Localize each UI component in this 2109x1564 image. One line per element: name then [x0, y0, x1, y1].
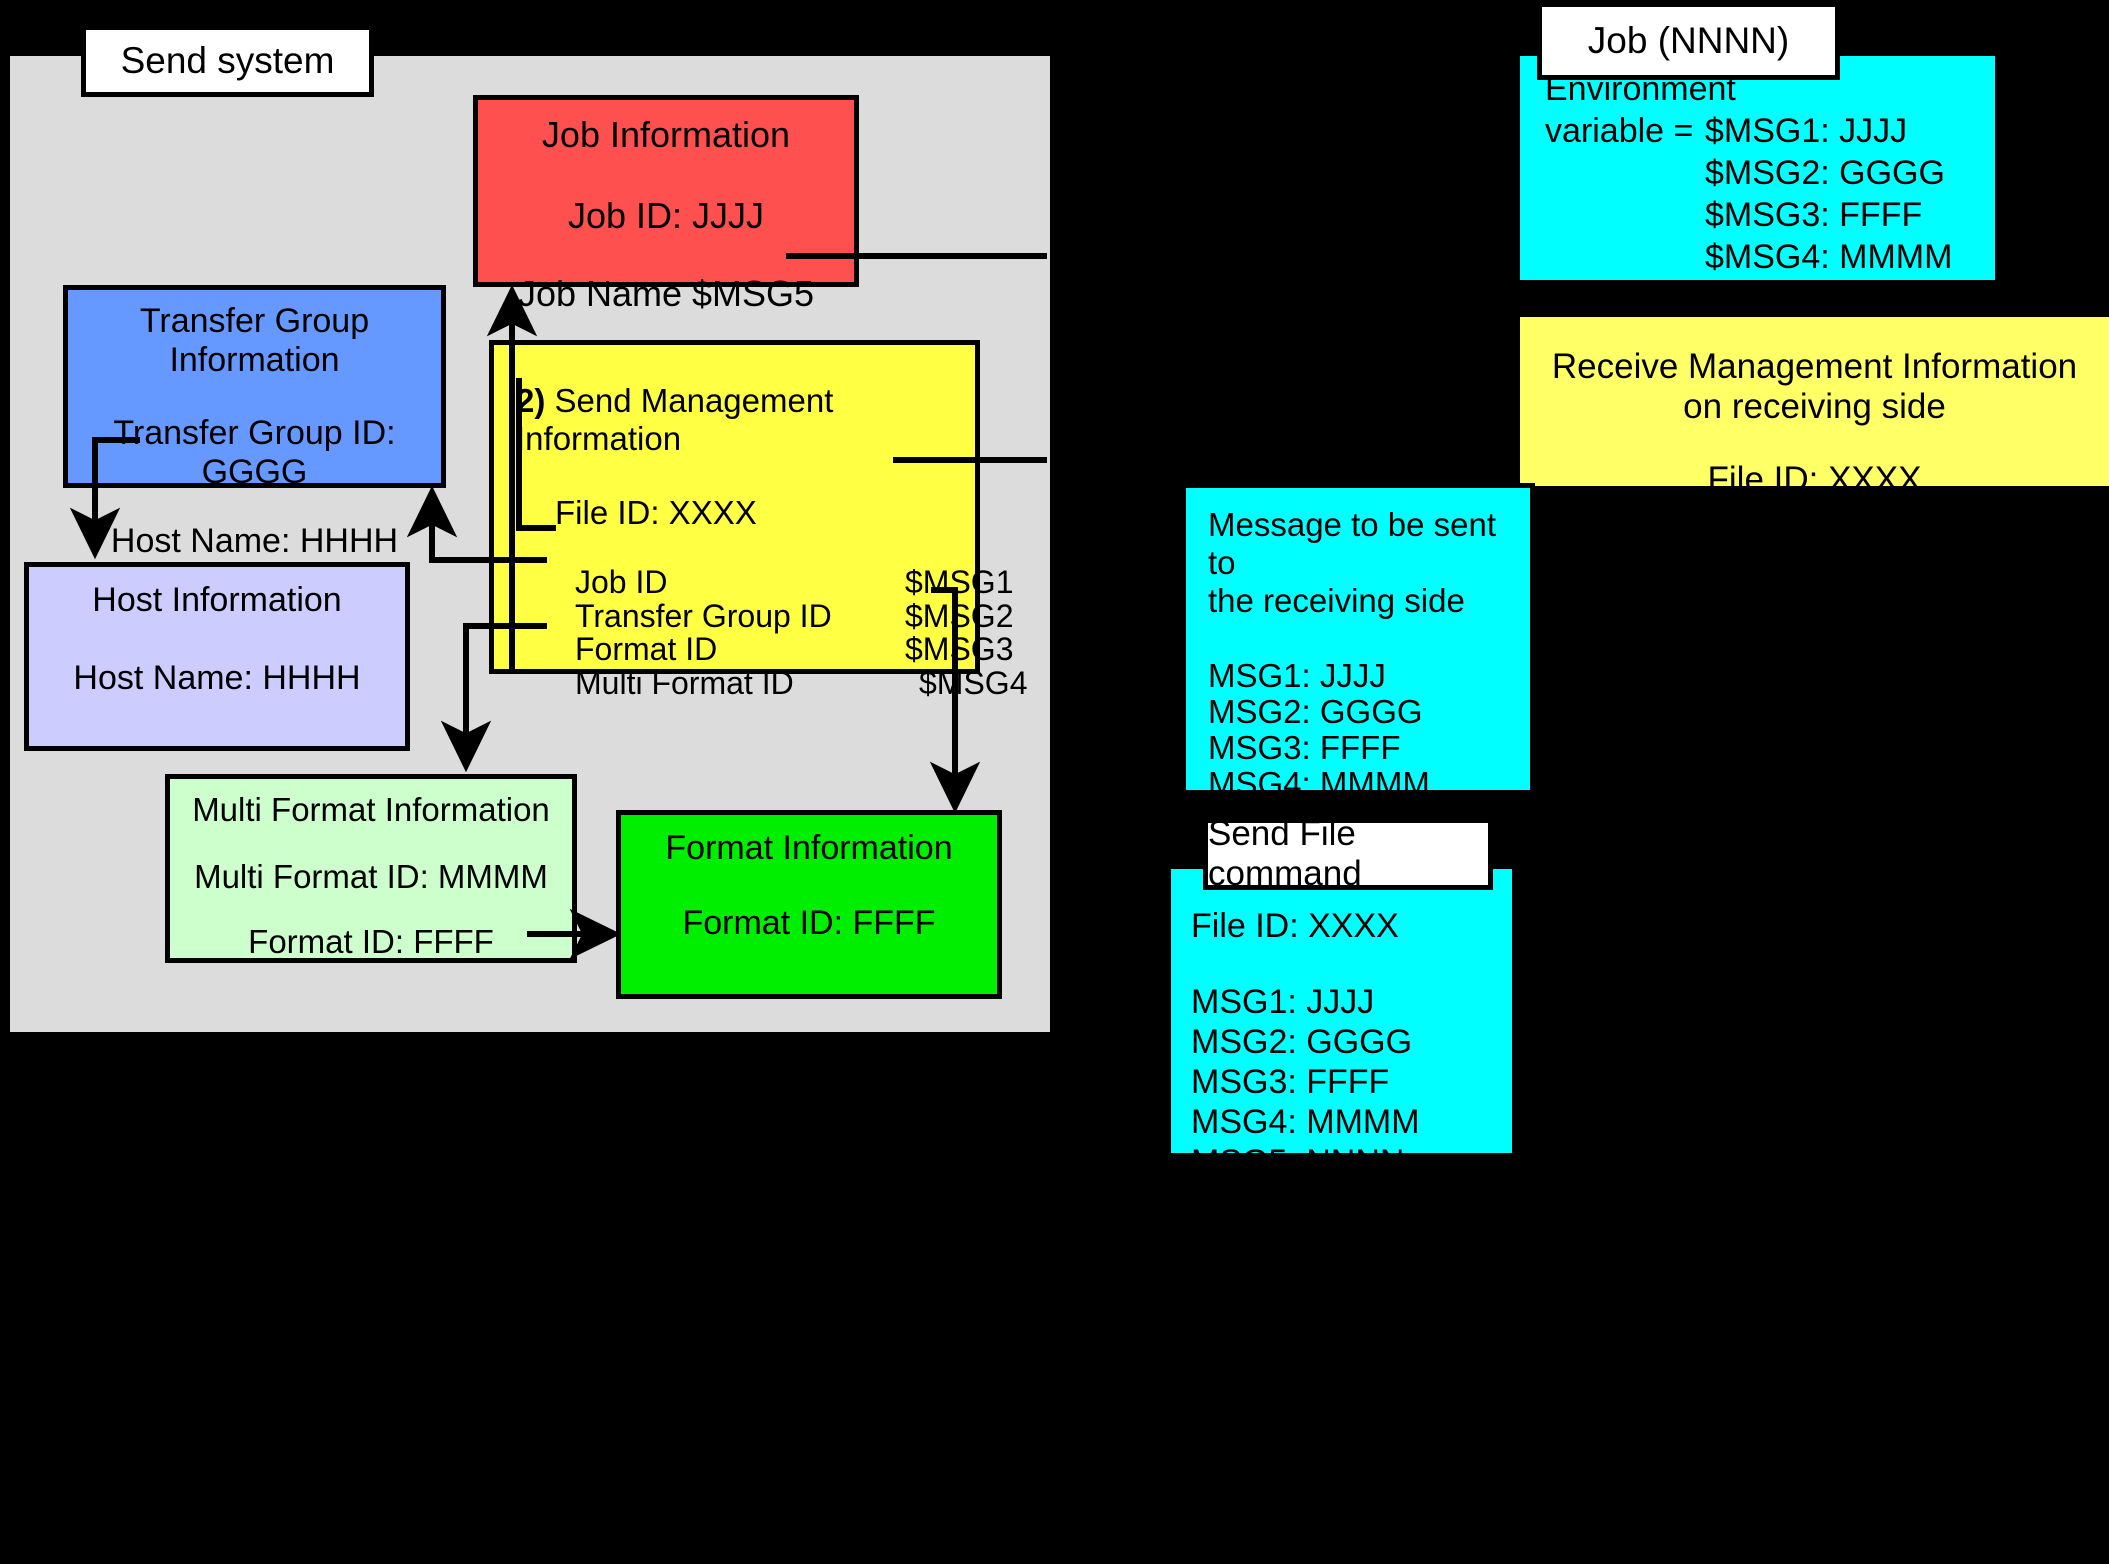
table-row: Transfer Group ID $MSG2: [575, 600, 1056, 634]
multi-format-format-id-text: Format ID: FFFF: [170, 923, 572, 961]
send-system-title-tab: Send system: [81, 25, 374, 97]
job-var-4: $MSG4: MMMM: [1545, 236, 2005, 278]
list-item: MSG2: GGGG: [1208, 694, 1430, 730]
send-management-file-id: File ID: XXXX: [494, 494, 1036, 532]
send-management-title: Send Management Information: [516, 382, 833, 457]
multi-format-title: Multi Format Information: [170, 791, 572, 829]
job-var-5: $MSG5: NNNN: [1545, 278, 2005, 320]
row-key: Multi Format ID: [575, 667, 905, 701]
send-file-command-title-tab: Send File command: [1203, 818, 1493, 890]
format-information-format-id-text: Format ID: FFFF: [621, 904, 997, 943]
message-list: MSG1: JJJJ MSG2: GGGG MSG3: FFFF MSG4: M…: [1208, 658, 1430, 838]
row-value: $MSG3: [905, 633, 1013, 667]
job-nnnn-label: Job (NNNN): [1588, 20, 1789, 62]
list-item: MSG5: NNNN: [1191, 1142, 1521, 1182]
row-key: Job ID: [575, 566, 905, 600]
row-key: Transfer Group ID: [575, 600, 905, 634]
job-var-3: $MSG3: FFFF: [1545, 194, 2005, 236]
send-management-rows: Job ID $MSG1 Transfer Group ID $MSG2 For…: [494, 566, 1056, 700]
message-to-be-sent-box: Message to be sent to the receiving side…: [1181, 483, 1535, 795]
send-system-label: Send system: [121, 40, 335, 82]
message-title-line1: Message to be sent to: [1208, 506, 1530, 582]
send-file-command-label: Send File command: [1208, 814, 1488, 894]
job-nnnn-title-tab: Job (NNNN): [1537, 2, 1840, 80]
table-row: Format ID $MSG3: [575, 633, 1056, 667]
row-value: $MSG2: [905, 600, 1013, 634]
format-information-title: Format Information: [621, 829, 997, 868]
diagram-canvas: Send system: [0, 0, 2109, 1564]
job-id-text: Job ID: JJJJ: [478, 195, 854, 237]
message-title-line2: the receiving side: [1208, 582, 1530, 620]
table-row: Multi Format ID $MSG4: [575, 667, 1056, 701]
job-var-2: $MSG2: GGGG: [1545, 152, 2005, 194]
job-name-text: Job Name $MSG5: [478, 273, 854, 315]
list-item: MSG1: JJJJ: [1208, 658, 1430, 694]
row-key: Format ID: [575, 633, 905, 667]
job-information-title: Job Information: [478, 114, 854, 156]
list-item: MSG3: FFFF: [1191, 1062, 1521, 1102]
multi-format-information-box: Multi Format Information Multi Format ID…: [165, 774, 577, 963]
transfer-group-title: Transfer Group Information: [68, 302, 441, 380]
list-item: MSG4: MMMM: [1191, 1102, 1521, 1142]
send-file-command-file-id: File ID: XXXX: [1191, 906, 1521, 946]
list-item: MSG3: FFFF: [1208, 730, 1430, 766]
job-var-1: $MSG1: JJJJ: [1705, 110, 1907, 152]
receive-management-title-line1: Receive Management Information: [1520, 347, 2109, 387]
format-information-box: Format Information Format ID: FFFF: [616, 810, 1002, 999]
multi-format-id-text: Multi Format ID: MMMM: [170, 858, 572, 896]
list-item: MSG1: JJJJ: [1191, 982, 1521, 1022]
environment-line2: variable =: [1545, 110, 1705, 152]
send-file-command-content: File ID: XXXX MSG1: JJJJ MSG2: GGGG MSG3…: [1191, 906, 1521, 1182]
receive-management-title-line2: on receiving side: [1520, 387, 2109, 427]
send-management-step: 2): [516, 382, 545, 419]
job-information-box: Job Information Job ID: JJJJ Job Name $M…: [473, 95, 859, 287]
list-item: MSG4: MMMM: [1208, 766, 1430, 802]
host-information-host-name-text: Host Name: HHHH: [29, 659, 405, 698]
host-information-title: Host Information: [29, 581, 405, 620]
send-management-information-box: 2) Send Management Information File ID: …: [489, 340, 980, 674]
transfer-group-host-name-text: Host Name: HHHH: [68, 522, 441, 561]
host-information-box: Host Information Host Name: HHHH: [24, 562, 410, 751]
table-row: Job ID $MSG1: [575, 566, 1056, 600]
transfer-group-id-text: Transfer Group ID: GGGG: [68, 414, 441, 492]
receive-management-information-box: Receive Management Information on receiv…: [1520, 317, 2109, 486]
row-value: $MSG4: [905, 667, 1027, 701]
row-value: $MSG1: [905, 566, 1013, 600]
list-item: MSG2: GGGG: [1191, 1022, 1521, 1062]
transfer-group-information-box: Transfer Group Information Transfer Grou…: [63, 285, 446, 488]
job-nnnn-content: Environment variable = $MSG1: JJJJ $MSG2…: [1545, 68, 2005, 320]
receive-management-file-id: File ID: XXXX: [1520, 460, 2109, 500]
